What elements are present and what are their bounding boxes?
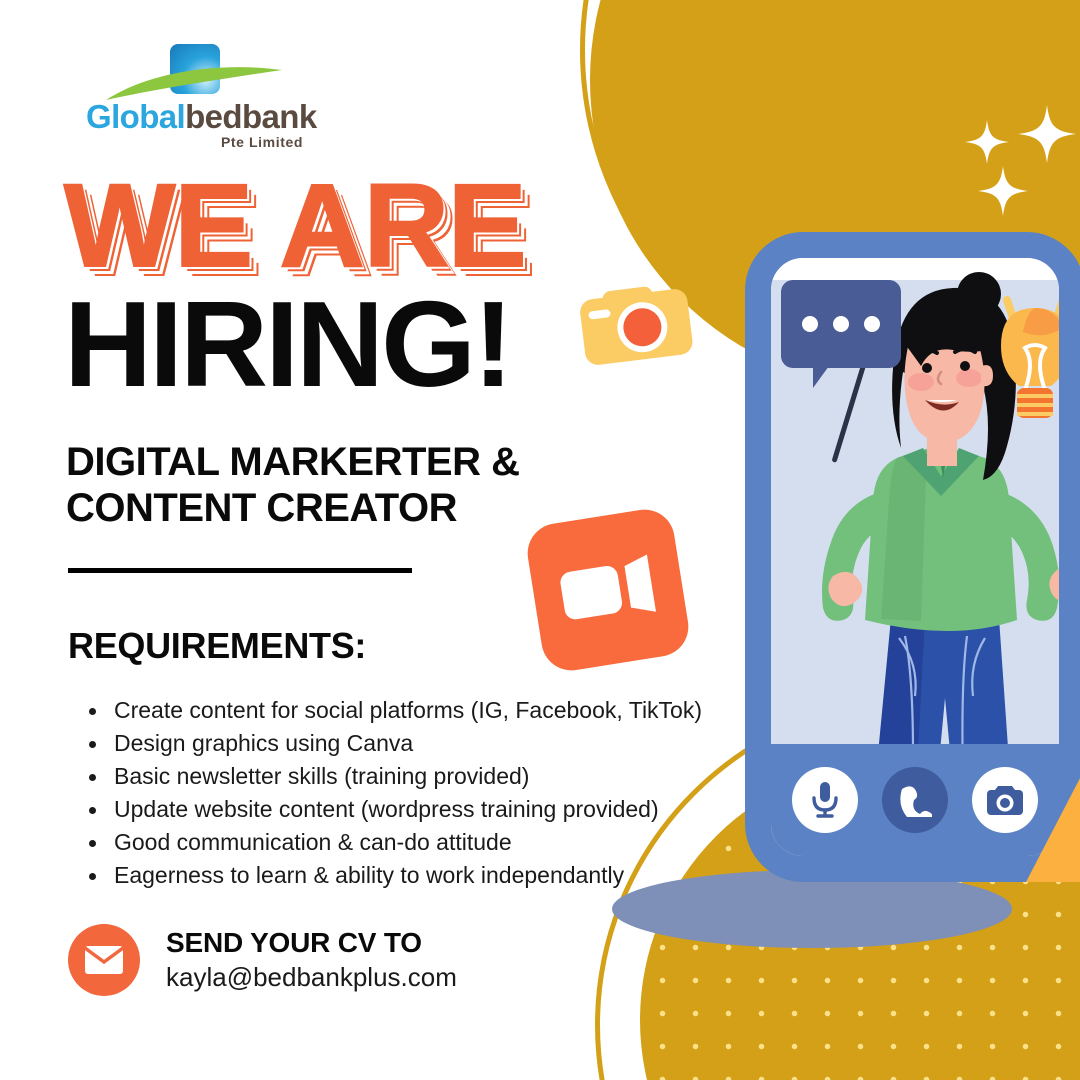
illustration-group — [600, 210, 1080, 970]
chat-bubble-icon — [781, 280, 901, 368]
contact-email: kayla@bedbankplus.com — [166, 961, 457, 994]
chat-dot — [802, 316, 818, 332]
call-controls-bar — [771, 744, 1059, 856]
logo-subtitle: Pte Limited — [86, 134, 303, 150]
envelope-icon — [68, 924, 140, 996]
end-call-button[interactable] — [882, 767, 948, 833]
contact-text: SEND YOUR CV TO kayla@bedbankplus.com — [166, 926, 457, 995]
company-logo: Globalbedbank Pte Limited — [86, 40, 316, 150]
send-cv-label: SEND YOUR CV TO — [166, 926, 457, 960]
sparkle-icon — [965, 120, 1009, 164]
headline-hiring: HIRING! — [64, 287, 526, 403]
logo-wordmark: Globalbedbank — [86, 100, 316, 133]
camera-icon — [987, 785, 1023, 815]
yellow-triangle-decoration — [1026, 732, 1080, 882]
job-title-line2: CONTENT CREATOR — [66, 486, 519, 532]
logo-word-global: Global — [86, 98, 185, 135]
microphone-button[interactable] — [792, 767, 858, 833]
chat-dot — [864, 316, 880, 332]
headline-block: WE ARE HIRING! — [64, 172, 526, 402]
phone-screen — [771, 258, 1059, 856]
lightbulb-icon — [987, 294, 1059, 431]
sparkle-icon — [978, 166, 1028, 216]
phone-handset-icon — [898, 783, 932, 817]
chat-dot — [833, 316, 849, 332]
microphone-icon — [812, 782, 838, 818]
logo-mark — [86, 40, 316, 102]
requirements-heading: REQUIREMENTS: — [68, 625, 366, 667]
job-title-line1: DIGITAL MARKERTER & — [66, 440, 519, 486]
contact-block: SEND YOUR CV TO kayla@bedbankplus.com — [68, 924, 457, 996]
job-title: DIGITAL MARKERTER & CONTENT CREATOR — [66, 440, 519, 531]
sparkle-icon — [1018, 105, 1076, 163]
hiring-poster: Globalbedbank Pte Limited WE ARE HIRING!… — [0, 0, 1080, 1080]
logo-word-bedbank: bedbank — [185, 98, 317, 135]
title-divider — [68, 568, 412, 573]
headline-we-are: WE ARE — [64, 172, 526, 281]
green-swoosh-icon — [104, 64, 284, 102]
